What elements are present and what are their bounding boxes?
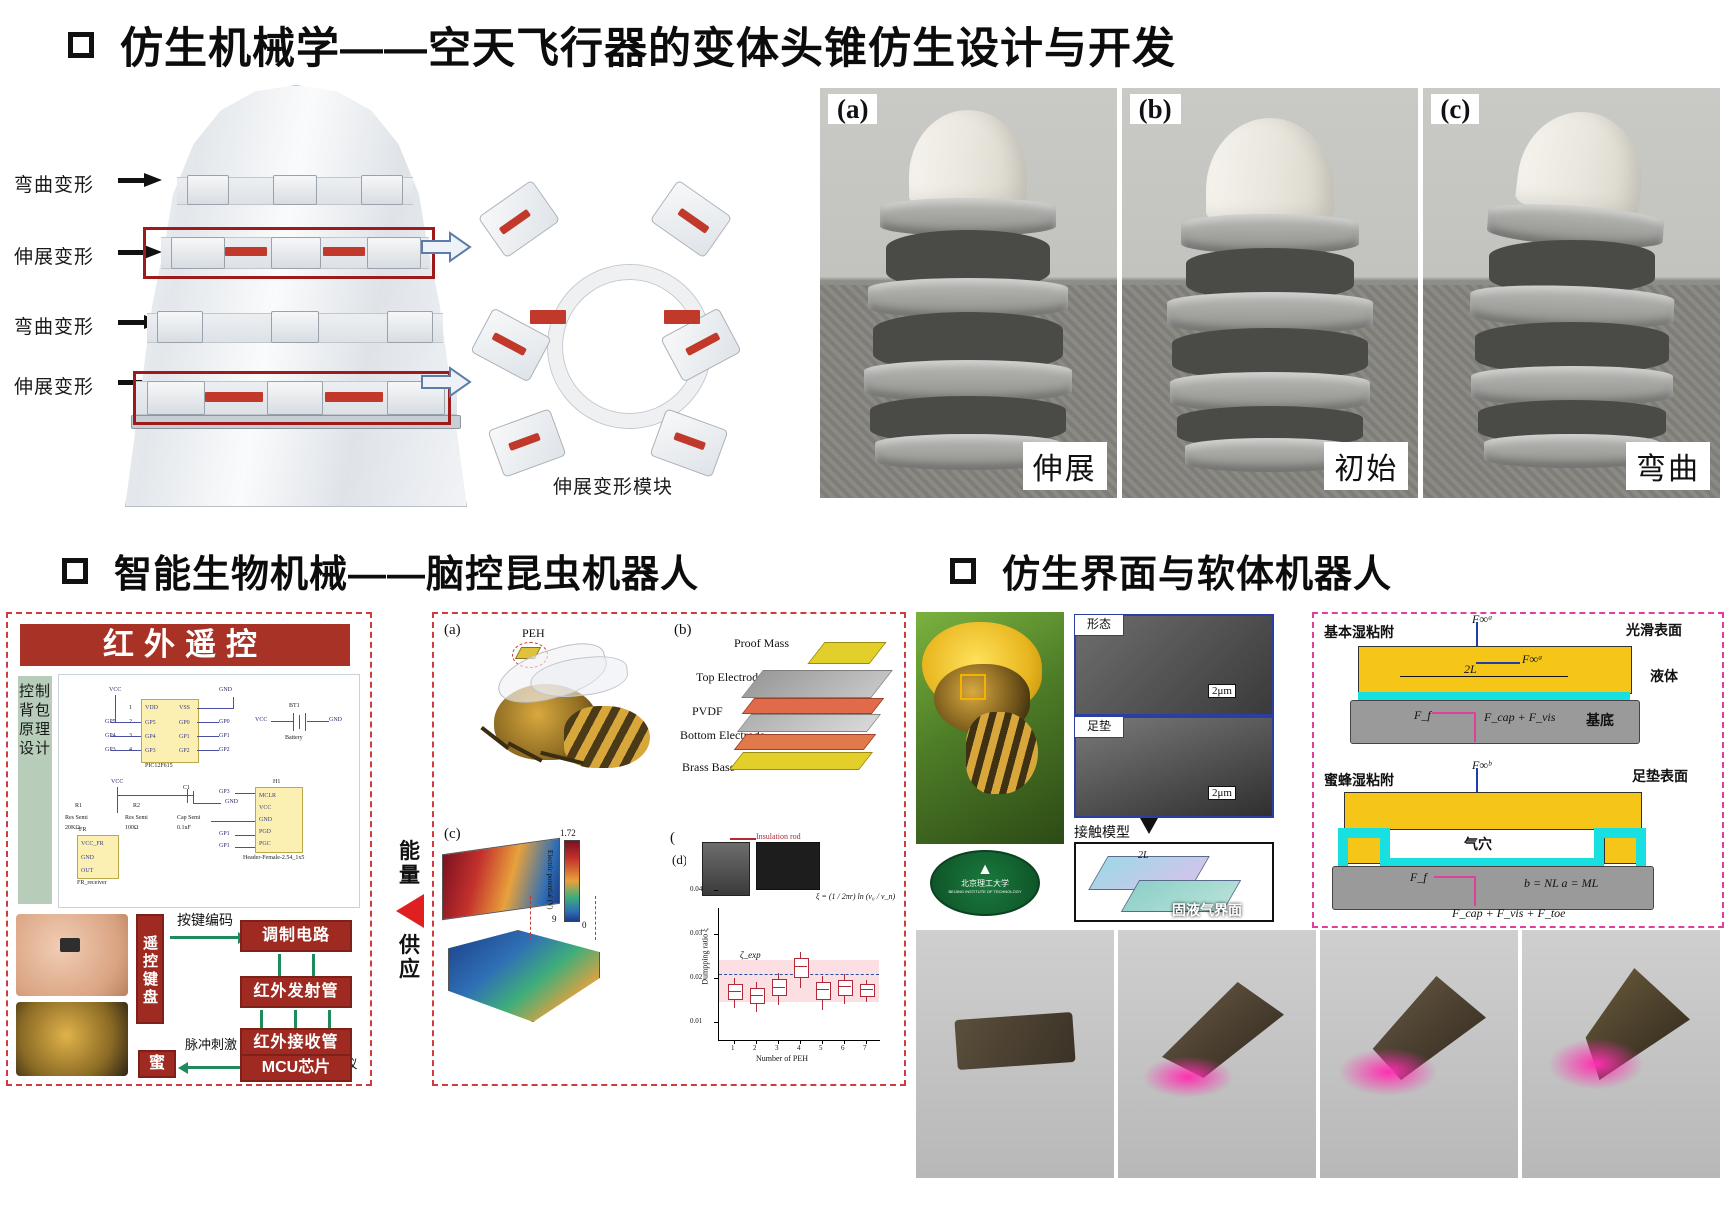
- module-limb: [650, 180, 733, 259]
- ir-remote-panel: 红外遥控 控制背包原理设计 VDD VSS GP5 GP0 GP4 GP1 GP…: [6, 612, 372, 1086]
- wet-pad-top: [1358, 646, 1632, 694]
- header-pin-vcc: VCC: [259, 805, 271, 811]
- soft-robot-frames: [916, 930, 1720, 1178]
- ir-top-label: FR: [79, 827, 86, 833]
- chip-pin-gp4: GP4: [145, 734, 156, 740]
- section-header-soft: 仿生界面与软体机器人: [950, 543, 1392, 598]
- resistor2-name: Res Semi: [65, 815, 88, 821]
- wet-cap-vis-toe: F_cap + F_vis + F_toe: [1452, 906, 1566, 921]
- wet-cap-vis: F_cap + F_vis: [1484, 710, 1555, 725]
- battery-ref: BT1: [289, 703, 300, 709]
- chart-xtick-2: 3: [775, 1044, 779, 1052]
- wet-f-horizontal-top: F∞ᵃ: [1522, 652, 1543, 667]
- net-gp1: GP1: [219, 733, 230, 739]
- sem-label-bottom: 足垫: [1074, 716, 1124, 738]
- soft-frame-curl-1: [1118, 930, 1316, 1178]
- extension-module-exploded: 伸展变形模块: [478, 170, 748, 500]
- header-pin-mclr: MCLR: [259, 793, 276, 799]
- peh-label-a: PEH: [522, 626, 545, 641]
- chart-box-1: [728, 984, 743, 1000]
- peh-layer-pvdf: PVDF: [692, 704, 723, 719]
- mechanism-block: [387, 311, 433, 343]
- bee-photo: [16, 1002, 128, 1076]
- chart-inset-scope: [756, 842, 820, 890]
- highlight-box-extension-2: [133, 371, 451, 425]
- arrow-encode-icon: [170, 936, 238, 939]
- photo-tag: (c): [1431, 94, 1479, 124]
- ir-module-ref: FR_receiver: [77, 880, 107, 886]
- net-vcc: VCC: [109, 687, 121, 693]
- flow-keyboard: 遥控键盘: [136, 914, 164, 1024]
- arrow-down-icon-4: [294, 1010, 297, 1028]
- chart-ytick-0: 0.01: [690, 1017, 702, 1025]
- photo-dome: [1206, 118, 1334, 222]
- arrow-down-icon-5: [328, 1010, 331, 1028]
- chart-xtick-6: 7: [863, 1044, 867, 1052]
- battery-net-vcc: VCC: [255, 717, 267, 723]
- cap-name: Cap Semi: [177, 815, 201, 821]
- chip-pin-gp0: GP0: [179, 720, 190, 726]
- chart-box-5: [816, 982, 831, 1000]
- header-net-pgc: GP1: [219, 843, 230, 849]
- wet-span-label: 2L: [1464, 662, 1477, 677]
- flow-target: 蜜: [138, 1050, 176, 1078]
- arrow-down-icon: [1140, 818, 1158, 834]
- resistor2-value: 20KΩ: [65, 825, 80, 831]
- zoom-square: [960, 674, 986, 700]
- net-vcc-2: VCC: [111, 779, 123, 785]
- module-caption: 伸展变形模块: [478, 472, 748, 499]
- laser-glow: [1338, 1048, 1438, 1096]
- mechanism-block: [187, 175, 229, 205]
- bee-abdomen: [966, 712, 1038, 794]
- chart-xtick-1: 2: [753, 1044, 757, 1052]
- header-net-gp3: GP3: [219, 789, 230, 795]
- slab-bottom-electrode: [737, 714, 881, 732]
- cad-label-2: 弯曲变形: [14, 312, 94, 339]
- ir-pin-vcc: VCC_FR: [81, 841, 104, 847]
- module-red-actuator: [530, 310, 566, 324]
- wet-title-top: 基本湿粘附: [1324, 622, 1394, 642]
- peh-layer-proof-mass: Proof Mass: [734, 636, 789, 651]
- force-friction-arrow: [1432, 712, 1476, 714]
- ir-backpack-device: [60, 938, 80, 952]
- wet-friction: F_f: [1414, 708, 1431, 723]
- section-header-main: 仿生机械学——空天飞行器的变体头锥仿生设计与开发: [68, 14, 1176, 76]
- chip-name: PIC12F615: [145, 763, 173, 769]
- mechanism-block: [361, 175, 403, 205]
- ir-banner-title: 红外遥控: [20, 624, 350, 666]
- module-red-actuator: [664, 310, 700, 324]
- header-pin-pgc: PGC: [259, 841, 271, 847]
- force-friction-bottom-arrow: [1434, 876, 1474, 878]
- bio-interface-panel: ▲ 北京理工大学 BEIJING INSTITUTE OF TECHNOLOGY…: [916, 612, 1304, 924]
- peh-tag-a: (a): [444, 622, 461, 639]
- energy-label-2: 供应: [390, 934, 430, 982]
- net-gnd: GND: [219, 687, 232, 693]
- page-title: 仿生机械学——空天飞行器的变体头锥仿生设计与开发: [120, 14, 1176, 76]
- force-horizontal-top: [1476, 662, 1520, 664]
- chart-ylabel: Dumpping ratio ξ: [701, 902, 710, 1012]
- red-arrow-icon: [396, 894, 424, 928]
- sem-scale-top: 2μm: [1208, 684, 1236, 698]
- mechanism-block: [273, 175, 317, 205]
- slab-pvdf: [742, 698, 885, 714]
- wet-friction-bottom: F_f: [1410, 870, 1427, 885]
- chart-formula: ξ = (1 / 2πr) ln (v₀ / v_n): [816, 892, 895, 901]
- wet-liquid-top: [1358, 692, 1630, 700]
- flow-pulse: 脉冲刺激: [184, 1038, 238, 1052]
- ir-schematic: VDD VSS GP5 GP0 GP4 GP1 GP3 GP2 PIC12F61…: [58, 674, 360, 908]
- flow-arrow-icon-2: [420, 365, 472, 399]
- fem-zoom-connector: [530, 896, 596, 940]
- flow-emitter: 红外发射管: [240, 976, 352, 1008]
- chart-xlabel: Number of PEH: [756, 1054, 808, 1063]
- soft-frame-curl-3: [1522, 930, 1720, 1178]
- flow-mcu: MCU芯片: [240, 1054, 352, 1082]
- soft-frame-curl-2: [1320, 930, 1518, 1178]
- photo-extended: (a) 伸展: [820, 88, 1117, 498]
- chart-xtick-5: 6: [841, 1044, 845, 1052]
- peh-tag-d: (d): [672, 852, 687, 868]
- finger-photo: [16, 914, 128, 996]
- header-pin-gnd: GND: [259, 817, 272, 823]
- resistor-ref: R2: [133, 803, 140, 809]
- chip-pin-gp3: GP3: [145, 748, 156, 754]
- battery-name: Battery: [285, 735, 303, 741]
- ir-pin-out: OUT: [81, 868, 93, 874]
- wet-title-bottom: 蜜蜂湿粘附: [1324, 770, 1394, 790]
- photo-tag: (b): [1130, 94, 1181, 124]
- wet-f-vertical-top: F∞ᵃ: [1472, 612, 1493, 627]
- wet-equation: b = NL a = ML: [1524, 876, 1598, 891]
- flow-arrow-icon-1: [420, 230, 472, 264]
- arrow-down-icon-3: [260, 1010, 263, 1028]
- damping-ratio-chart: Insulation rod ξ = (1 / 2πr) ln (v₀ / v_…: [686, 832, 892, 1064]
- header-name: Header-Female-2.54_1x5: [243, 855, 304, 861]
- wet-substrate-bottom: [1332, 866, 1654, 910]
- mechanism-block: [157, 311, 203, 343]
- flow-encode: 按键编码: [174, 912, 236, 928]
- laser-glow: [1142, 1056, 1234, 1098]
- colorbar-max: 1.72: [560, 828, 576, 838]
- photo-bent: (c) 弯曲: [1423, 88, 1720, 498]
- slab-brass-base: [729, 752, 873, 770]
- header-ref: H1: [273, 779, 280, 785]
- resistor-name: Res Semi: [125, 815, 148, 821]
- module-limb: [487, 408, 566, 478]
- sem-label-top: 形态: [1074, 614, 1124, 636]
- peh-panel: (a) (b) (c) ( (d) PEH Proof Mass Top Ele…: [432, 612, 906, 1086]
- wet-adhesion-panel: 基本湿粘附 光滑表面 液体 基底 F∞ᵃ F∞ᵃ 2L F_f F_cap + …: [1312, 612, 1724, 928]
- chart-xtick-3: 4: [797, 1044, 801, 1052]
- photo-caption: 初始: [1324, 442, 1408, 490]
- peh-layer-brass-base: Brass Base: [682, 760, 735, 775]
- photo-caption: 弯曲: [1626, 442, 1710, 490]
- cone-body: [125, 85, 467, 507]
- ir-pin-gnd: GND: [81, 855, 94, 861]
- university-logo: ▲ 北京理工大学 BEIJING INSTITUTE OF TECHNOLOGY: [930, 850, 1040, 916]
- chart-zeta-label: ζ_exp: [740, 950, 761, 960]
- mechanism-block: [271, 311, 319, 343]
- chip-pin-gp2: GP2: [179, 748, 190, 754]
- chart-annotation-line: [730, 838, 756, 840]
- cad-label-0: 弯曲变形: [14, 170, 94, 197]
- cad-diagram: 弯曲变形 伸展变形 弯曲变形 伸展变形: [0, 75, 760, 515]
- peh-tag-d-paren: (: [670, 830, 675, 847]
- chart-box-4: [794, 958, 809, 978]
- bullet-square-icon: [68, 32, 94, 58]
- chart-x-axis: [718, 1040, 880, 1041]
- chart-ytick-3: 0.04: [690, 885, 702, 893]
- chart-annotation-rod: Insulation rod: [756, 832, 801, 841]
- energy-supply-arrow: 能量 供应: [390, 840, 430, 1060]
- chart-xtick-0: 1: [731, 1044, 735, 1052]
- arrow-down-icon-2: [312, 954, 315, 978]
- highlight-box-extension-1: [143, 227, 435, 279]
- wet-label-pad: 足垫表面: [1632, 766, 1688, 786]
- arrow-left-icon: [188, 1066, 240, 1069]
- bullet-square-icon: [62, 558, 88, 584]
- chart-box-7: [860, 984, 875, 997]
- ir-side-label: 控制背包原理设计: [18, 676, 52, 904]
- wet-label-cavity: 气穴: [1464, 834, 1492, 854]
- flow-modulate: 调制电路: [240, 920, 352, 952]
- photo-initial: (b) 初始: [1122, 88, 1419, 498]
- cad-label-3: 伸展变形: [14, 372, 94, 399]
- interface-label: 固液气界面: [1172, 900, 1242, 920]
- net-gp2: GP2: [219, 747, 230, 753]
- chart-xtick-4: 5: [819, 1044, 823, 1052]
- slide-page: 仿生机械学——空天飞行器的变体头锥仿生设计与开发 弯曲变形 伸展变形 弯曲变形 …: [0, 0, 1730, 1212]
- wet-pad-bottom: [1344, 792, 1642, 830]
- arrow-down-icon-1: [278, 954, 281, 978]
- net-gnd-2: GND: [225, 799, 238, 805]
- photo-caption: 伸展: [1023, 442, 1107, 490]
- nose-cone-assembly: [125, 85, 465, 505]
- peh-tag-b: (b): [674, 622, 692, 639]
- contact-model-label: 接触模型: [1074, 822, 1130, 842]
- photo-dome: [909, 110, 1027, 206]
- sem-scale-bottom: 2μm: [1208, 786, 1236, 800]
- force-cap-arrow: [1474, 712, 1476, 742]
- wet-label-substrate: 基底: [1586, 710, 1614, 730]
- span-line: [1400, 676, 1568, 677]
- header-pin-pgd: PGD: [259, 829, 271, 835]
- section-header-insect: 智能生物机械——脑控昆虫机器人: [62, 543, 699, 598]
- photo-dome: [1514, 105, 1649, 219]
- peh-tag-c: (c): [444, 826, 461, 843]
- photo-tag: (a): [828, 94, 877, 124]
- resistor2-ref: R1: [75, 803, 82, 809]
- section-title-soft: 仿生界面与软体机器人: [1002, 543, 1392, 598]
- force-toe-arrow: [1474, 876, 1476, 906]
- slab-proof-mass: [807, 642, 886, 664]
- chart-inset-fixture: [702, 842, 750, 896]
- chip-pin-vss: VSS: [179, 705, 190, 711]
- prototype-photo-row: (a) 伸展 (b) 初始 (c) 弯曲: [820, 88, 1720, 498]
- bullet-square-icon: [950, 558, 976, 584]
- bee-flower-photo: [916, 612, 1064, 844]
- wet-f-vertical-bottom: F∞ᵇ: [1472, 758, 1491, 773]
- header-net-pgd: GP1: [219, 831, 230, 837]
- wet-label-smooth: 光滑表面: [1626, 620, 1682, 640]
- slab-top-electrode: [741, 670, 893, 698]
- soft-frame-flat: [916, 930, 1114, 1178]
- chip-pin-gp1: GP1: [179, 734, 190, 740]
- net-gp0: GP0: [219, 719, 230, 725]
- cap-value: 0.1uF: [177, 825, 191, 831]
- fem-beam-bottom: [448, 930, 600, 1022]
- battery-net-gnd: GND: [329, 717, 342, 723]
- logo-sub: BEIJING INSTITUTE OF TECHNOLOGY: [932, 889, 1038, 895]
- chip-pin-vdd: VDD: [145, 705, 158, 711]
- chart-box-6: [838, 980, 853, 996]
- slab-mid: [734, 734, 877, 750]
- chip-pin-gp5: GP5: [145, 720, 156, 726]
- logo-text: 北京理工大学: [932, 878, 1038, 889]
- sample-sheet: [954, 1012, 1075, 1070]
- section-title-insect: 智能生物机械——脑控昆虫机器人: [114, 543, 699, 598]
- laser-glow: [1548, 1038, 1644, 1090]
- cad-label-1: 伸展变形: [14, 242, 94, 269]
- chart-box-2: [750, 988, 765, 1004]
- module-limb: [478, 180, 561, 259]
- wet-label-liquid: 液体: [1650, 666, 1678, 686]
- energy-label-1: 能量: [390, 840, 430, 888]
- resistor-value: 100Ω: [125, 825, 138, 831]
